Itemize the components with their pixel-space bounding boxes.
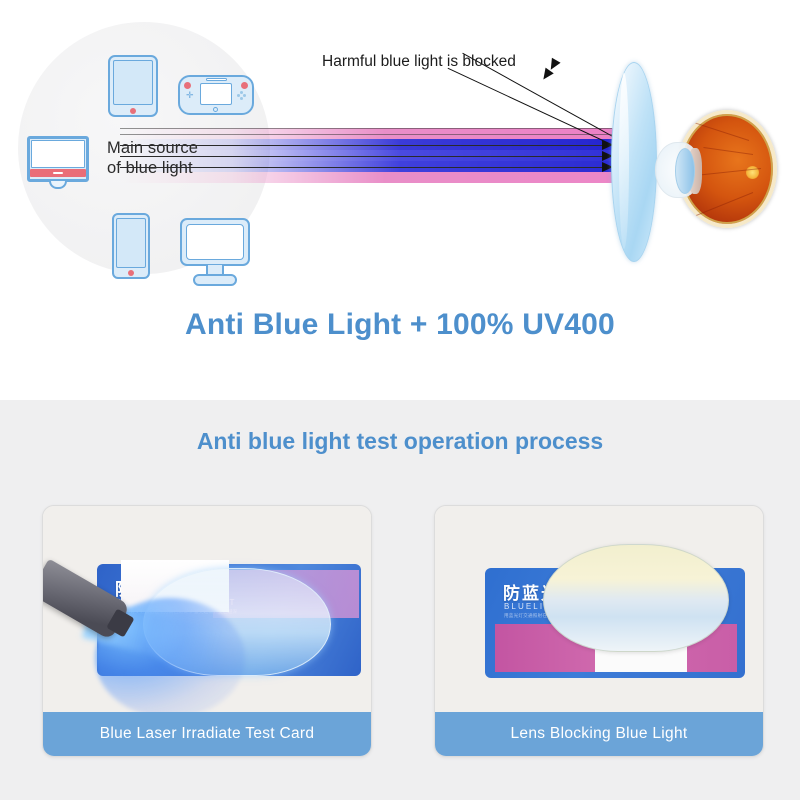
test-card-photo-right: 防蓝光测试卡 BLUELIGHT PROTECT 用蓝光灯交通照射在下方白色测试… — [435, 506, 763, 712]
tv-monitor-icon — [27, 136, 89, 182]
desktop-monitor-icon — [180, 218, 250, 266]
tablet-icon — [108, 55, 158, 117]
test-card-caption-left: Blue Laser Irradiate Test Card — [43, 712, 371, 756]
top-diagram-section: ✛ — [0, 0, 800, 400]
harmful-light-blocked-label: Harmful blue light is blocked — [322, 53, 516, 71]
product-infographic: ✛ — [0, 0, 800, 800]
headline-anti-blue-light: Anti Blue Light + 100% UV400 — [0, 308, 800, 342]
test-process-section: Anti blue light test operation process 防… — [0, 400, 800, 800]
game-controller-icon: ✛ — [178, 75, 254, 115]
main-source-label: Main source of blue light — [107, 138, 227, 178]
eyeglass-lens-icon — [611, 62, 657, 262]
test-card-lens-blocking[interactable]: 防蓝光测试卡 BLUELIGHT PROTECT 用蓝光灯交通照射在下方白色测试… — [434, 505, 764, 757]
main-source-label-line1: Main source — [107, 139, 198, 157]
lens-sample-right — [543, 544, 729, 652]
section-title: Anti blue light test operation process — [0, 428, 800, 455]
main-source-label-line2: of blue light — [107, 159, 193, 177]
test-card-photo-left: 防蓝光测试卡 BLUELIGHT PROTECT 用蓝光灯交通照射在下方白色测试… — [43, 506, 371, 712]
test-card-caption-right: Lens Blocking Blue Light — [435, 712, 763, 756]
test-card-blue-laser[interactable]: 防蓝光测试卡 BLUELIGHT PROTECT 用蓝光灯交通照射在下方白色测试… — [42, 505, 372, 757]
smartphone-icon — [112, 213, 150, 279]
eye-anatomy-icon — [655, 108, 777, 230]
